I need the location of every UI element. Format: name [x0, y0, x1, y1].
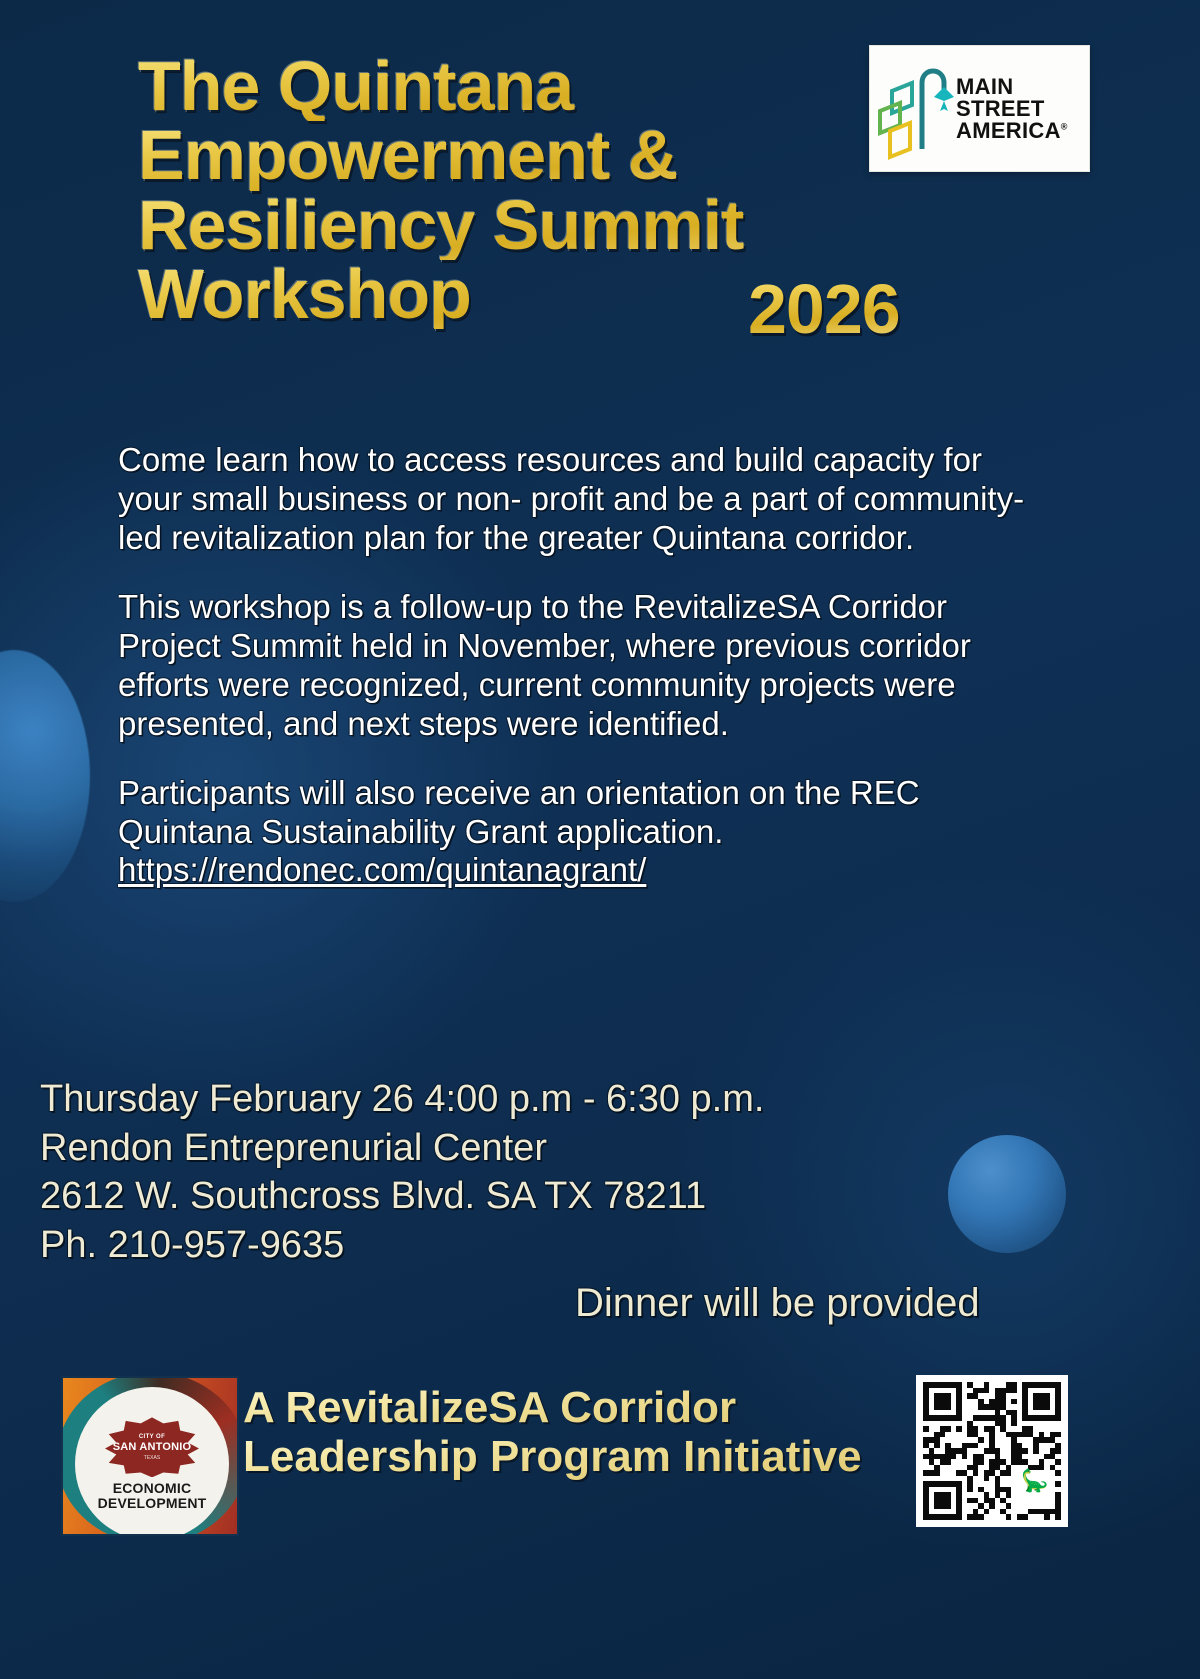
qr-code[interactable]: 🦕: [916, 1375, 1068, 1527]
seal-line-1: CITY OF: [139, 1434, 165, 1440]
msa-trademark: ®: [1061, 121, 1068, 131]
event-poster: The Quintana Empowerment & Resiliency Su…: [0, 0, 1200, 1679]
body-paragraph-2: This workshop is a follow-up to the Revi…: [118, 588, 1053, 744]
street-lamp-icon: [870, 53, 956, 165]
poster-body: Come learn how to access resources and b…: [118, 441, 1053, 890]
title-year: 2026: [748, 274, 900, 344]
program-tagline: A RevitalizeSA Corridor Leadership Progr…: [243, 1383, 903, 1482]
body-paragraph-1: Come learn how to access resources and b…: [118, 441, 1053, 558]
qr-code-matrix: 🦕: [923, 1382, 1061, 1520]
department-name: ECONOMIC DEVELOPMENT: [98, 1481, 207, 1510]
tagline-line-2: Leadership Program Initiative: [243, 1432, 903, 1481]
main-street-america-logo: MAIN STREET AMERICA®: [869, 45, 1090, 172]
logo-inner-disc: CITY OF SAN ANTONIO TEXAS ECONOMIC DEVEL…: [75, 1387, 229, 1536]
body-paragraph-3-text: Participants will also receive an orient…: [118, 774, 920, 850]
dinner-note: Dinner will be provided: [575, 1281, 980, 1326]
tagline-line-1: A RevitalizeSA Corridor: [243, 1383, 903, 1432]
department-line-2: DEVELOPMENT: [98, 1496, 207, 1511]
decorative-sphere-left: [0, 650, 90, 902]
msa-word-1: MAIN STREET: [956, 76, 1089, 120]
city-of-san-antonio-economic-development-logo: CITY OF SAN ANTONIO TEXAS ECONOMIC DEVEL…: [61, 1376, 239, 1536]
department-line-1: ECONOMIC: [98, 1481, 207, 1496]
event-address: 2612 W. Southcross Blvd. SA TX 78211: [40, 1172, 990, 1221]
grant-application-link[interactable]: https://rendonec.com/quintanagrant/: [118, 851, 646, 888]
seal-line-3: TEXAS: [144, 1456, 160, 1461]
event-datetime: Thursday February 26 4:00 p.m - 6:30 p.m…: [40, 1075, 990, 1124]
event-venue: Rendon Entreprenurial Center: [40, 1124, 990, 1173]
main-street-america-wordmark: MAIN STREET AMERICA®: [956, 76, 1089, 142]
event-phone: Ph. 210-957-9635: [40, 1221, 990, 1270]
msa-word-2: AMERICA: [956, 118, 1061, 143]
san-antonio-seal-icon: CITY OF SAN ANTONIO TEXAS: [105, 1417, 199, 1477]
dinosaur-icon: 🦕: [1021, 1468, 1047, 1494]
body-paragraph-3: Participants will also receive an orient…: [118, 774, 1053, 891]
title-line-3: Resiliency Summit: [138, 191, 998, 260]
seal-line-2: SAN ANTONIO: [113, 1442, 192, 1453]
event-details: Thursday February 26 4:00 p.m - 6:30 p.m…: [40, 1075, 990, 1270]
